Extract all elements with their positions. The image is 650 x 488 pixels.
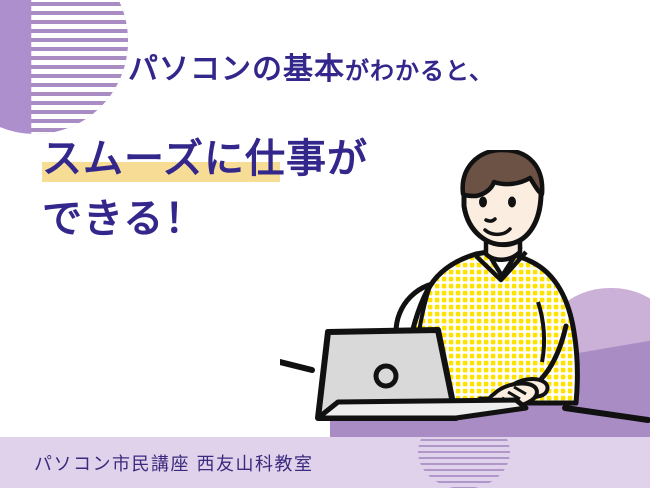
headline-line-3: できる！ (42, 186, 205, 244)
headline-line-1: パソコンの基本がわかると、 (128, 44, 494, 88)
person-eye-right (508, 197, 516, 208)
desk-edge-line (565, 408, 648, 420)
person-head (463, 150, 543, 245)
motion-line (280, 362, 312, 370)
headline-line-2-wrap: スムーズに仕事が (42, 126, 368, 184)
banner-striped-decoration (418, 437, 510, 488)
bottom-banner: パソコン市民講座 西友山科教室 (0, 437, 650, 488)
headline-line-1-main: パソコンの基本 (128, 53, 345, 86)
banner-label: パソコン市民講座 西友山科教室 (34, 450, 314, 476)
illustration-man-at-laptop (280, 150, 650, 450)
person-eye-left (479, 197, 487, 208)
headline-line-2: スムーズに仕事が (42, 126, 368, 184)
headline-line-1-tail: がわかると、 (345, 58, 494, 85)
laptop-logo-icon (376, 366, 396, 386)
laptop-base (318, 400, 526, 418)
promotional-poster: パソコンの基本がわかると、 スムーズに仕事が できる！ (0, 0, 650, 488)
